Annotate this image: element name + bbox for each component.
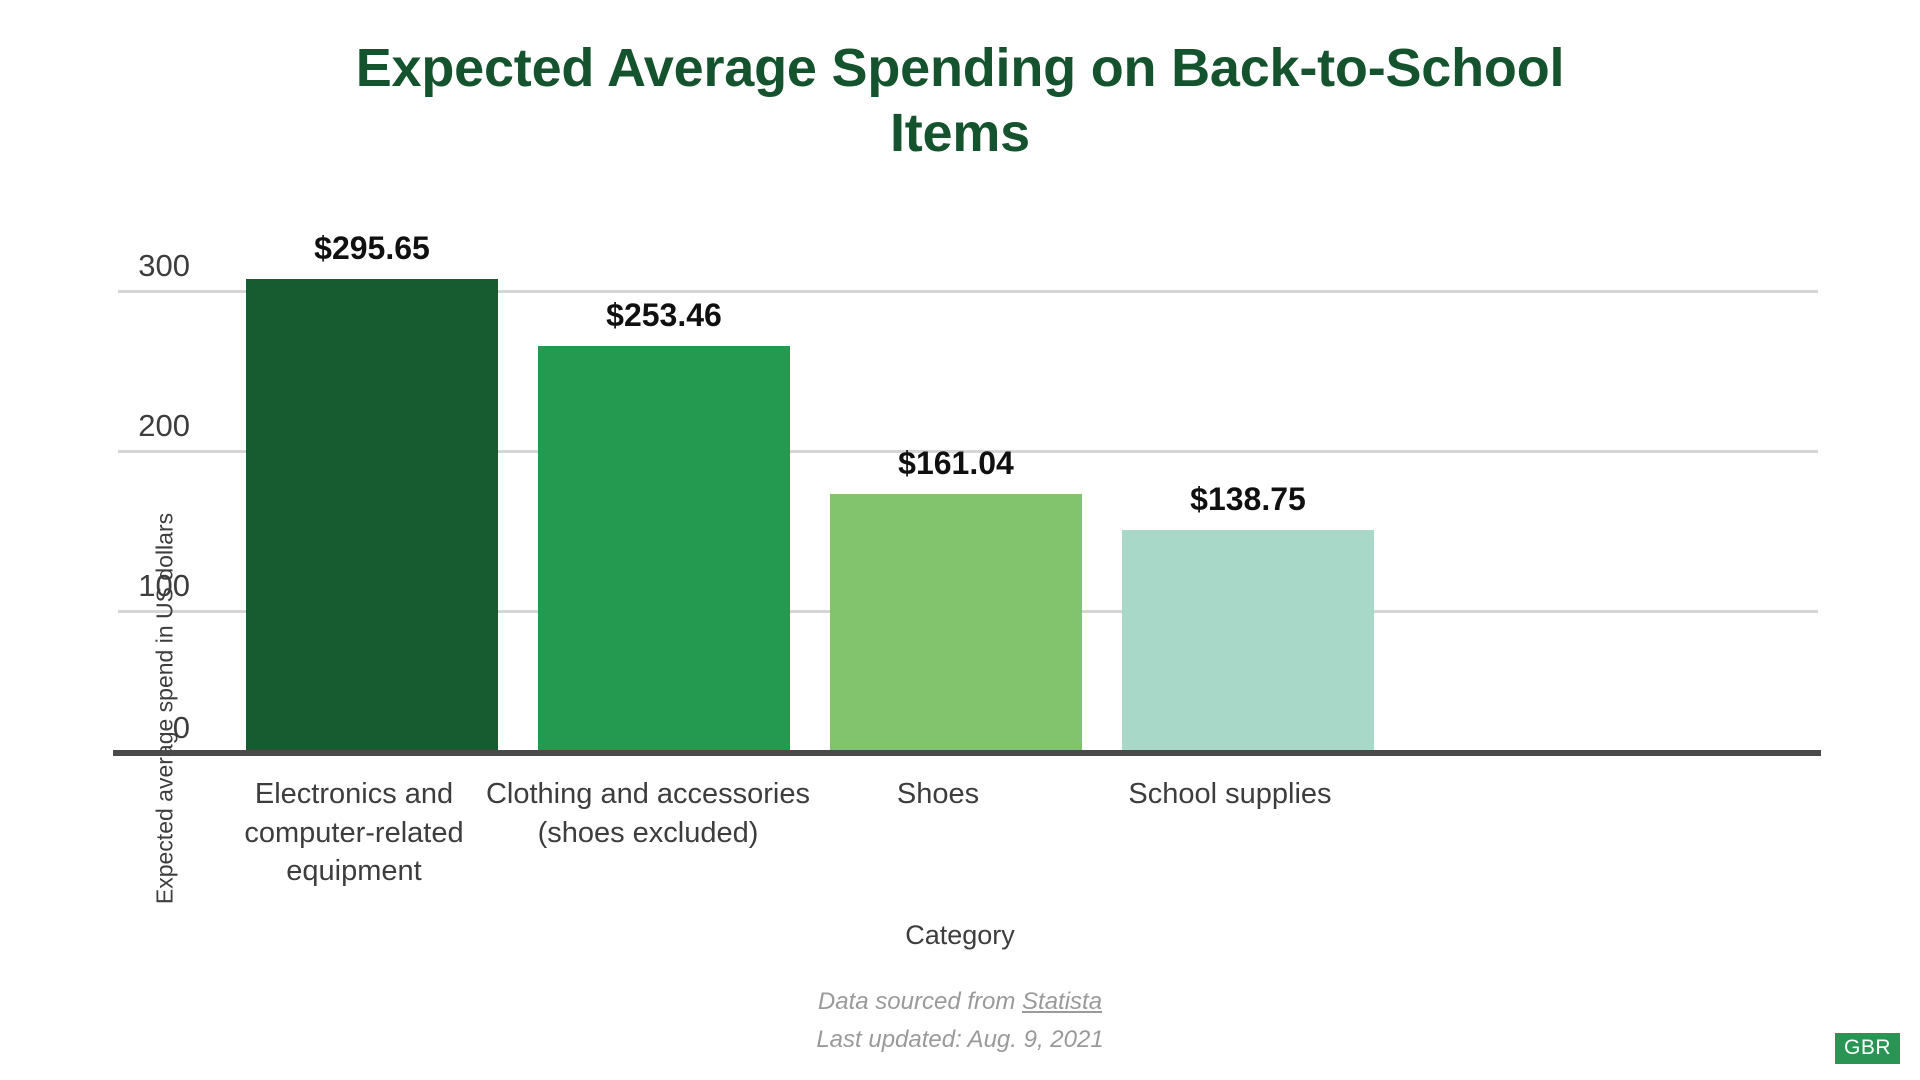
chart-title: Expected Average Spending on Back-to-Sch… — [190, 36, 1730, 166]
bar-group-school-supplies[interactable]: $138.75 — [1122, 530, 1374, 752]
statista-link[interactable]: Statista — [1022, 988, 1102, 1015]
bar-school-supplies[interactable] — [1122, 530, 1374, 752]
x-tick-label-line: equipment — [186, 852, 522, 891]
x-tick-label-line: Shoes — [770, 775, 1106, 814]
y-tick-label-200: 200 — [118, 410, 190, 441]
gbr-badge: GBR — [1835, 1033, 1900, 1064]
bar-group-shoes[interactable]: $161.04 — [830, 494, 1082, 752]
x-tick-label-line: School supplies — [1062, 775, 1398, 814]
x-axis-title: Category — [0, 920, 1920, 951]
chart-page: Expected Average Spending on Back-to-Sch… — [0, 0, 1920, 1080]
data-source-note: Data sourced from Statista — [0, 988, 1920, 1016]
plot-area: Expected average spend in US dollars $29… — [118, 240, 1818, 752]
x-tick-label-school-supplies: School supplies — [1062, 775, 1398, 814]
last-updated-note: Last updated: Aug. 9, 2021 — [0, 1026, 1920, 1054]
y-axis-title: Expected average spend in US dollars — [152, 429, 179, 989]
bar-group-clothing[interactable]: $253.46 — [538, 346, 790, 752]
x-tick-label-line: (shoes excluded) — [458, 814, 838, 853]
chart-title-line-1: Expected Average Spending on Back-to-Sch… — [356, 38, 1565, 98]
y-tick-label-0: 0 — [118, 712, 190, 743]
bar-clothing[interactable] — [538, 346, 790, 752]
x-axis-line — [113, 750, 1821, 756]
bar-value-label: $161.04 — [770, 445, 1142, 482]
y-tick-label-300: 300 — [118, 250, 190, 281]
bar-value-label: $138.75 — [1062, 481, 1434, 518]
chart-title-line-2: Items — [890, 103, 1030, 163]
bar-shoes[interactable] — [830, 494, 1082, 752]
bar-value-label: $295.65 — [186, 230, 558, 267]
x-tick-label-shoes: Shoes — [770, 775, 1106, 814]
bar-electronics[interactable] — [246, 279, 498, 752]
bar-group-electronics[interactable]: $295.65 — [246, 279, 498, 752]
bar-value-label: $253.46 — [478, 297, 850, 334]
data-source-prefix: Data sourced from — [818, 988, 1022, 1015]
y-tick-label-100: 100 — [118, 570, 190, 601]
